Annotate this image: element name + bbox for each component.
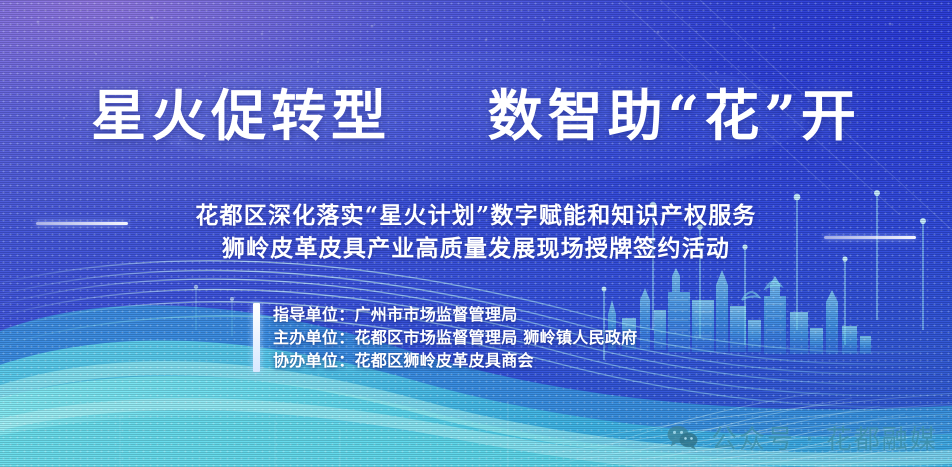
organizer-host: 主办单位：花都区市场监督管理局 狮岭镇人民政府 [273,326,637,349]
subtitle-line-2: 狮岭皮革皮具产业高质量发展现场授牌签约活动 [0,232,952,265]
wechat-icon [666,424,700,452]
organizer-accent-bar [253,303,260,372]
organizer-list: 指导单位：广州市市场监督管理局 主办单位：花都区市场监督管理局 狮岭镇人民政府 … [273,303,637,372]
subtitle: 花都区深化落实“星火计划”数字赋能和知识产权服务 狮岭皮革皮具产业高质量发展现场… [0,199,952,265]
page-title: 星火促转型 数智助“花”开 [0,84,952,148]
watermark: 公众号 · 花都融媒 [666,419,938,456]
banner-content: 星火促转型 数智助“花”开 花都区深化落实“星火计划”数字赋能和知识产权服务 狮… [0,0,952,467]
organizer-block: 指导单位：广州市市场监督管理局 主办单位：花都区市场监督管理局 狮岭镇人民政府 … [253,303,637,372]
watermark-label: 公众号 · 花都融媒 [711,419,938,456]
organizer-coorganizer: 协办单位：花都区狮岭皮革皮具商会 [273,349,637,372]
event-banner: 星火促转型 数智助“花”开 花都区深化落实“星火计划”数字赋能和知识产权服务 狮… [0,0,952,467]
organizer-guidance: 指导单位：广州市市场监督管理局 [273,303,637,326]
subtitle-line-1: 花都区深化落实“星火计划”数字赋能和知识产权服务 [0,199,952,232]
